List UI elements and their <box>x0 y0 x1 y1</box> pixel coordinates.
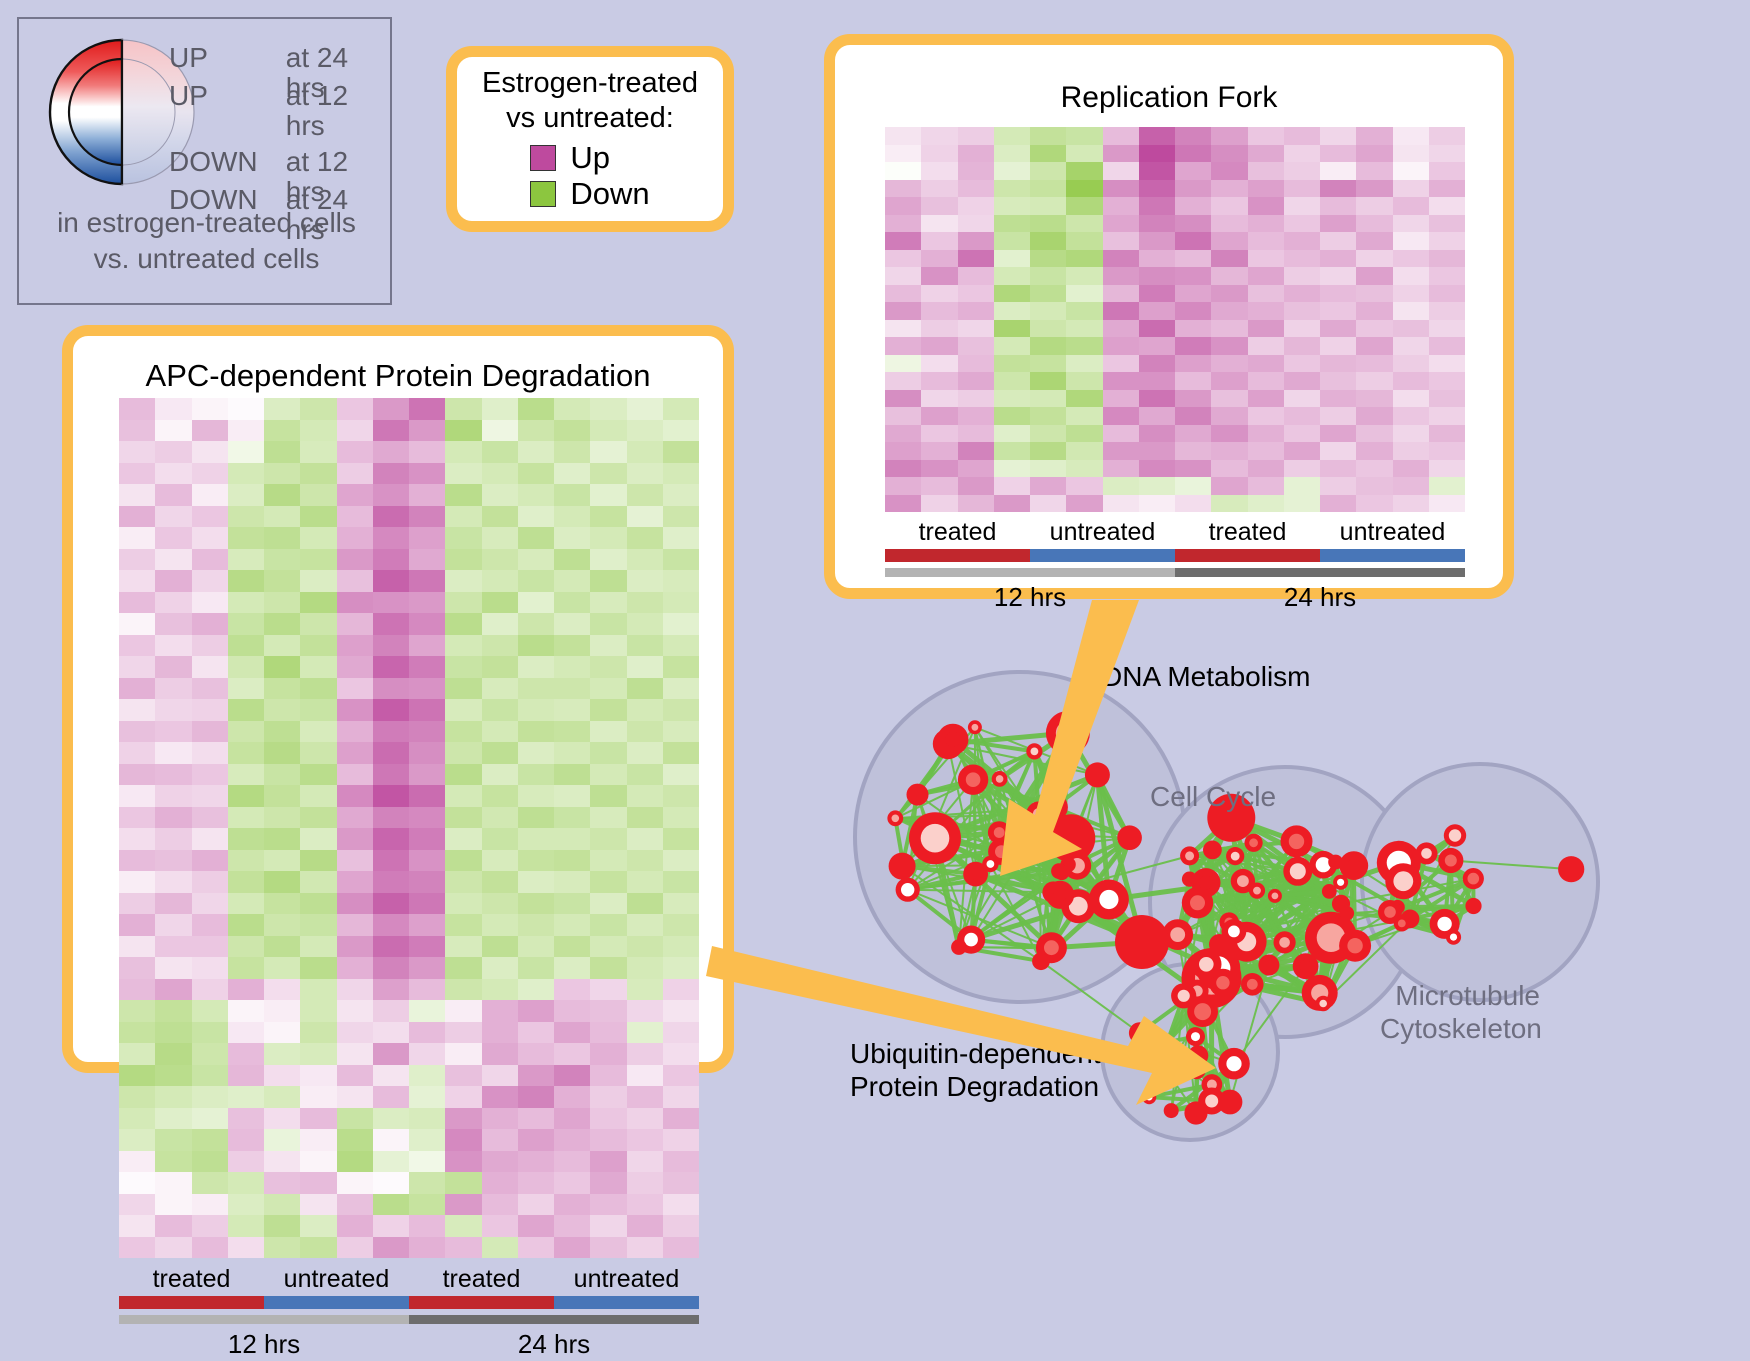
heatmap-cell <box>554 850 590 872</box>
heatmap-cell <box>1248 460 1284 478</box>
heatmap-cell <box>921 390 957 408</box>
heatmap-cell <box>1139 127 1175 145</box>
heatmap-cell <box>155 1065 191 1087</box>
heatmap-cell <box>1393 285 1429 303</box>
heatmap-cell <box>663 506 699 528</box>
heatmap-cell <box>1066 355 1102 373</box>
heatmap-cell <box>885 180 921 198</box>
heatmap-cell <box>1030 477 1066 495</box>
heatmap-cell <box>192 807 228 829</box>
heatmap-cell <box>554 441 590 463</box>
heatmap-cell <box>1030 145 1066 163</box>
heatmap-cell <box>1030 460 1066 478</box>
heatmap-cell <box>192 398 228 420</box>
heatmap-cell <box>228 1215 264 1237</box>
heatmap-cell <box>192 1022 228 1044</box>
timepoint-color-bar <box>119 1315 699 1324</box>
heatmap-cell <box>409 1022 445 1044</box>
heatmap-cell <box>1139 477 1175 495</box>
heatmap-cell <box>590 957 626 979</box>
heatmap-cell <box>482 592 518 614</box>
network-node-core <box>1146 1094 1153 1101</box>
heatmap-cell <box>300 484 336 506</box>
heatmap-cell <box>155 1215 191 1237</box>
heatmap-cell <box>1429 145 1465 163</box>
heatmap-cell <box>663 1065 699 1087</box>
heatmap-cell <box>337 914 373 936</box>
heatmap-cell <box>482 957 518 979</box>
network-node-core <box>1205 1095 1218 1108</box>
heatmap-cell <box>518 1129 554 1151</box>
heatmap-cell <box>192 1215 228 1237</box>
heatmap-cell <box>663 871 699 893</box>
heatmap-cell <box>518 699 554 721</box>
heatmap-cell <box>627 893 663 915</box>
network-node-core <box>1168 1107 1175 1114</box>
heatmap-cell <box>337 742 373 764</box>
heatmap-cell <box>1103 197 1139 215</box>
heatmap-cell <box>994 285 1030 303</box>
heatmap-cell <box>373 635 409 657</box>
bar-treated <box>1175 549 1320 562</box>
heatmap-cell <box>663 1151 699 1173</box>
heatmap-cell <box>228 785 264 807</box>
heatmap-cell <box>1139 145 1175 163</box>
heatmap-cell <box>228 1108 264 1130</box>
heatmap-cell <box>445 592 481 614</box>
heatmap-cell <box>1429 215 1465 233</box>
heatmap-cell <box>627 1151 663 1173</box>
heatmap-cell <box>373 807 409 829</box>
heatmap-cell <box>518 1086 554 1108</box>
heatmap-cell <box>1139 442 1175 460</box>
heatmap-cell <box>264 635 300 657</box>
heatmap-cell <box>1211 425 1247 443</box>
heatmap-cell <box>192 678 228 700</box>
color-key-rows: UP at 24 hrs UP at 12 hrs DOWN at 12 hrs… <box>169 43 390 223</box>
heatmap-cell <box>554 1172 590 1194</box>
heatmap-cell <box>373 1215 409 1237</box>
heatmap-cell <box>1030 337 1066 355</box>
heatmap-cell <box>192 914 228 936</box>
heatmap-cell <box>921 267 957 285</box>
heatmap-cell <box>663 592 699 614</box>
heatmap-cell <box>373 871 409 893</box>
heatmap-cell <box>921 407 957 425</box>
heatmap-cell <box>1211 145 1247 163</box>
heatmap-cell <box>119 1022 155 1044</box>
heatmap-cell <box>958 197 994 215</box>
heatmap-cell <box>885 197 921 215</box>
heatmap-cell <box>155 914 191 936</box>
figure-canvas: UP at 24 hrs UP at 12 hrs DOWN at 12 hrs… <box>0 0 1750 1279</box>
heatmap-cell <box>1393 145 1429 163</box>
heatmap-cell <box>337 699 373 721</box>
heatmap-cell <box>1248 180 1284 198</box>
heatmap-cell <box>1284 215 1320 233</box>
heatmap-cell <box>518 979 554 1001</box>
heatmap-cell <box>627 979 663 1001</box>
heatmap-cell <box>445 936 481 958</box>
heatmap-cell <box>228 441 264 463</box>
heatmap-cell <box>482 914 518 936</box>
heatmap-cell <box>264 1129 300 1151</box>
heatmap-cell <box>994 302 1030 320</box>
heatmap-cell <box>155 1022 191 1044</box>
heatmap-cell <box>155 463 191 485</box>
heatmap-cell <box>1393 477 1429 495</box>
network-node-core <box>1216 976 1229 989</box>
heatmap-cell <box>1211 442 1247 460</box>
heatmap-cell <box>337 871 373 893</box>
heatmap-cell <box>119 656 155 678</box>
heatmap-cell <box>627 871 663 893</box>
heatmap-cell <box>1429 442 1465 460</box>
heatmap-cell <box>1103 407 1139 425</box>
heatmap-cell <box>482 1065 518 1087</box>
heatmap-cell <box>300 936 336 958</box>
heatmap-cell <box>155 527 191 549</box>
color-key-row: UP at 24 hrs <box>169 43 390 81</box>
heatmap-cell <box>264 807 300 829</box>
heatmap-cell <box>590 721 626 743</box>
heatmap-cell <box>590 1043 626 1065</box>
heatmap-cell <box>445 850 481 872</box>
heatmap-cell <box>958 145 994 163</box>
heatmap-cell <box>445 699 481 721</box>
heatmap-cell <box>627 635 663 657</box>
heatmap-cell <box>300 635 336 657</box>
heatmap-cell <box>1320 425 1356 443</box>
heatmap-cell <box>1103 162 1139 180</box>
heatmap-cell <box>518 678 554 700</box>
heatmap-cell <box>445 1215 481 1237</box>
heatmap-cell <box>300 1151 336 1173</box>
network-node-core <box>892 815 900 823</box>
heatmap-cell <box>518 570 554 592</box>
heatmap-cell <box>885 232 921 250</box>
heatmap-cell <box>1175 407 1211 425</box>
network-node-core <box>1437 917 1451 931</box>
heatmap-cell <box>337 570 373 592</box>
heatmap-cell <box>300 914 336 936</box>
heatmap-cell <box>264 871 300 893</box>
heatmap-cell <box>228 850 264 872</box>
heatmap-cell <box>482 1172 518 1194</box>
heatmap-cell <box>228 699 264 721</box>
heatmap-cell <box>409 893 445 915</box>
heatmap-cell <box>994 460 1030 478</box>
network-node-core <box>1247 979 1258 990</box>
heatmap-cell <box>1211 460 1247 478</box>
heatmap-cell <box>958 215 994 233</box>
heatmap-cell <box>554 1000 590 1022</box>
heatmap-cell <box>1030 407 1066 425</box>
heatmap-cell <box>482 742 518 764</box>
heatmap-cell <box>119 1043 155 1065</box>
bar-untreated <box>1030 549 1175 562</box>
heatmap-cell <box>1356 232 1392 250</box>
heatmap-cell <box>518 635 554 657</box>
heatmap-cell <box>627 1215 663 1237</box>
heatmap-cell <box>192 893 228 915</box>
heatmap-cell <box>1211 355 1247 373</box>
heatmap-cell <box>554 871 590 893</box>
heatmap-cell <box>119 1129 155 1151</box>
heatmap-cell <box>885 425 921 443</box>
heatmap-cell <box>445 828 481 850</box>
heatmap-cell <box>885 320 921 338</box>
column-group-labels: treated untreated treated untreated <box>119 1264 699 1294</box>
heatmap-cell <box>445 441 481 463</box>
heatmap-cell <box>1356 372 1392 390</box>
heatmap-cell <box>155 1086 191 1108</box>
network-node <box>1322 884 1337 899</box>
treatment-color-bar <box>119 1296 699 1309</box>
heatmap-cell <box>373 1237 409 1259</box>
heatmap-cell <box>663 742 699 764</box>
heatmap-cell <box>445 1000 481 1022</box>
heatmap-cell <box>300 979 336 1001</box>
heatmap-cell <box>300 441 336 463</box>
bar-treated <box>119 1296 264 1309</box>
heatmap-cell <box>1356 127 1392 145</box>
heatmap-cell <box>1175 250 1211 268</box>
heatmap-cell <box>627 850 663 872</box>
heatmap-cell <box>228 635 264 657</box>
heatmap-cell <box>119 1215 155 1237</box>
heatmap-cell <box>337 1065 373 1087</box>
heatmap-cell <box>1284 232 1320 250</box>
heatmap-cell <box>554 914 590 936</box>
heatmap-cell <box>663 1086 699 1108</box>
label-dna-metabolism: DNA Metabolism <box>1102 660 1311 693</box>
heatmap-cell <box>1030 372 1066 390</box>
heatmap-cell <box>554 721 590 743</box>
heatmap-cell <box>627 506 663 528</box>
heatmap-cell <box>264 742 300 764</box>
heatmap-cell <box>554 893 590 915</box>
heatmap-cell <box>1211 372 1247 390</box>
heatmap-cell <box>958 162 994 180</box>
timepoint-labels: 12 hrs 24 hrs <box>119 1327 699 1361</box>
heatmap-cell <box>1175 162 1211 180</box>
column-group-labels: treated untreated treated untreated <box>885 517 1465 547</box>
heatmap-cell <box>1103 302 1139 320</box>
heatmap-cell <box>1356 355 1392 373</box>
heatmap-cell <box>554 398 590 420</box>
heatmap-cell <box>1103 320 1139 338</box>
heatmap-cell <box>994 215 1030 233</box>
heatmap-cell <box>409 936 445 958</box>
network-node-core <box>1290 863 1306 879</box>
heatmap-cell <box>590 979 626 1001</box>
heatmap-cell <box>1211 302 1247 320</box>
heatmap-cell <box>192 871 228 893</box>
heatmap-cell <box>119 721 155 743</box>
heatmap-cell <box>1429 197 1465 215</box>
heatmap-cell <box>482 979 518 1001</box>
heatmap-cell <box>482 764 518 786</box>
heatmap-cell <box>409 871 445 893</box>
heatmap-cell <box>119 1172 155 1194</box>
heatmap-cell <box>1030 127 1066 145</box>
heatmap-cell <box>921 127 957 145</box>
heatmap-cell <box>1429 285 1465 303</box>
heatmap-cell <box>554 420 590 442</box>
color-key-footer: in estrogen-treated cells vs. untreated … <box>19 205 394 277</box>
heatmap-cell <box>445 1043 481 1065</box>
network-node-core <box>1164 1039 1171 1046</box>
heatmap-cell <box>518 420 554 442</box>
network-node-core <box>994 827 1005 838</box>
heatmap-cell <box>445 957 481 979</box>
bar-treated <box>409 1296 554 1309</box>
network-node-core <box>1272 893 1279 900</box>
treatment-color-bar <box>885 549 1465 562</box>
heatmap-cell <box>1356 442 1392 460</box>
estrogen-legend-title-line1: Estrogen-treated <box>482 66 698 101</box>
pathway-network-diagram: DNA Metabolism Cell Cycle Microtubule Cy… <box>790 612 1750 1279</box>
network-node <box>907 784 929 806</box>
heatmap-cell <box>1284 407 1320 425</box>
heatmap-cell <box>1175 197 1211 215</box>
heatmap-cell <box>228 1129 264 1151</box>
heatmap-cell <box>1066 215 1102 233</box>
heatmap-cell <box>264 936 300 958</box>
heatmap-cell <box>1320 442 1356 460</box>
heatmap-cell <box>1030 180 1066 198</box>
heatmap-cell <box>155 871 191 893</box>
heatmap-cell <box>994 145 1030 163</box>
color-key-row: UP at 12 hrs <box>169 81 390 119</box>
heatmap-cell <box>373 914 409 936</box>
heatmap-cell <box>994 477 1030 495</box>
heatmap-cell <box>155 635 191 657</box>
heatmap-cell <box>590 656 626 678</box>
heatmap-cell <box>590 463 626 485</box>
heatmap-cell <box>1175 460 1211 478</box>
heatmap-cell <box>1103 127 1139 145</box>
heatmap-cell <box>445 785 481 807</box>
heatmap-cell <box>518 871 554 893</box>
heatmap-cell <box>228 893 264 915</box>
heatmap-cell <box>192 592 228 614</box>
heatmap-cell <box>1066 162 1102 180</box>
heatmap-cell <box>119 828 155 850</box>
heatmap-cell <box>994 232 1030 250</box>
heatmap-cell <box>885 337 921 355</box>
heatmap-cell <box>482 484 518 506</box>
heatmap-cell <box>518 785 554 807</box>
heatmap-cell <box>300 656 336 678</box>
heatmap-cell <box>1429 407 1465 425</box>
heatmap-cell <box>337 398 373 420</box>
heatmap-cell <box>1139 250 1175 268</box>
heatmap-cell <box>590 635 626 657</box>
heatmap-cell <box>921 145 957 163</box>
legend-label-down: Down <box>570 178 649 210</box>
heatmap-cell <box>119 957 155 979</box>
heatmap-cell <box>409 1215 445 1237</box>
heatmap-cell <box>1211 320 1247 338</box>
heatmap-cell <box>554 1151 590 1173</box>
heatmap-cell <box>445 527 481 549</box>
heatmap-cell <box>373 1172 409 1194</box>
heatmap-cell <box>228 1237 264 1259</box>
heatmap-cell <box>1103 285 1139 303</box>
heatmap-cell <box>300 592 336 614</box>
network-node-core <box>1347 938 1362 953</box>
apc-dependent-panel: APC-dependent Protein Degradation treate… <box>62 325 734 1073</box>
heatmap-cell <box>663 613 699 635</box>
heatmap-cell <box>300 1237 336 1259</box>
heatmap-cell <box>228 592 264 614</box>
heatmap-cell <box>228 1086 264 1108</box>
heatmap-cell <box>958 337 994 355</box>
heatmap-cell <box>518 1043 554 1065</box>
heatmap-cell <box>1139 390 1175 408</box>
color-key-direction: UP <box>169 43 286 73</box>
heatmap-cell <box>445 871 481 893</box>
heatmap-cell <box>1284 460 1320 478</box>
heatmap-cell <box>885 285 921 303</box>
heatmap-cell <box>300 893 336 915</box>
heatmap-cell <box>409 506 445 528</box>
heatmap-cell <box>300 871 336 893</box>
heatmap-cell <box>119 871 155 893</box>
heatmap-cell <box>663 484 699 506</box>
heatmap-cell <box>518 613 554 635</box>
heatmap-cell <box>1248 197 1284 215</box>
heatmap-cell <box>445 893 481 915</box>
heatmap-cell <box>627 785 663 807</box>
heatmap-cell <box>1103 250 1139 268</box>
network-node-core <box>1056 721 1080 745</box>
network-node-core <box>1226 1056 1241 1071</box>
heatmap-cell <box>228 936 264 958</box>
heatmap-cell <box>1248 285 1284 303</box>
heatmap-cell <box>155 420 191 442</box>
heatmap-cell <box>373 1086 409 1108</box>
heatmap-cell <box>1175 477 1211 495</box>
heatmap-cell <box>1103 215 1139 233</box>
heatmap-cell <box>1103 145 1139 163</box>
heatmap-cell <box>1139 407 1175 425</box>
heatmap-cell <box>445 764 481 786</box>
heatmap-cell <box>590 807 626 829</box>
heatmap-cell <box>1030 495 1066 513</box>
heatmap-cell <box>482 420 518 442</box>
heatmap-cell <box>1248 232 1284 250</box>
heatmap-cell <box>627 484 663 506</box>
heatmap-cell <box>1429 495 1465 513</box>
heatmap-cell <box>155 1151 191 1173</box>
heatmap-cell <box>337 721 373 743</box>
heatmap-cell <box>1356 477 1392 495</box>
heatmap-cell <box>921 425 957 443</box>
heatmap-cell <box>554 592 590 614</box>
heatmap-cell <box>300 1043 336 1065</box>
heatmap-cell <box>264 893 300 915</box>
heatmap-cell <box>482 1215 518 1237</box>
heatmap-cell <box>192 613 228 635</box>
heatmap-cell <box>1211 285 1247 303</box>
heatmap-cell <box>627 613 663 635</box>
bar-24hrs <box>1175 568 1465 577</box>
heatmap-cell <box>554 570 590 592</box>
heatmap-cell <box>627 441 663 463</box>
